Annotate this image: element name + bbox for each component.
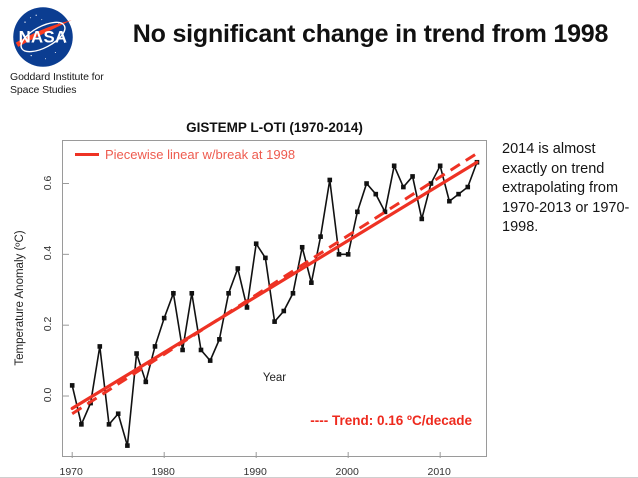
chart-title: GISTEMP L-OTI (1970-2014) (62, 120, 487, 135)
plot-area: Piecewise linear w/break at 1998 ---- Tr… (62, 140, 487, 457)
x-tick-label: 1980 (152, 466, 175, 478)
nasa-branding: NASA Goddard Institute for Space Studies (8, 6, 128, 97)
institute-name: Goddard Institute for Space Studies (10, 71, 128, 97)
y-tick-label: 0.2 (42, 317, 54, 332)
x-axis-title: Year (62, 372, 487, 384)
legend-swatch-piecewise (75, 153, 99, 156)
y-axis-title: Temperature Anomaly (ºC) (14, 230, 26, 365)
svg-text:NASA: NASA (19, 28, 68, 47)
data-series-line (72, 162, 477, 445)
nasa-meatball-logo: NASA (12, 6, 74, 68)
trend-annotation: ---- Trend: 0.16 ºC/decade (310, 413, 472, 428)
institute-line-1: Goddard Institute for (10, 71, 128, 84)
chart-figure: GISTEMP L-OTI (1970-2014) Piecewise line… (0, 108, 500, 478)
y-tick-label: 0.0 (42, 388, 54, 403)
x-tick-label: 2000 (335, 466, 358, 478)
institute-line-2: Space Studies (10, 84, 128, 97)
x-tick-label: 1970 (60, 466, 83, 478)
x-tick-label: 1990 (243, 466, 266, 478)
y-tick-label: 0.4 (42, 246, 54, 261)
slide-title: No significant change in trend from 1998 (118, 20, 623, 49)
y-tick-label: 0.6 (42, 175, 54, 190)
plot-svg (63, 141, 488, 458)
chart-legend: Piecewise linear w/break at 1998 (75, 147, 295, 162)
legend-label-piecewise: Piecewise linear w/break at 1998 (105, 147, 295, 162)
side-note: 2014 is almost exactly on trend extrapol… (502, 140, 634, 238)
x-tick-label: 2010 (427, 466, 450, 478)
